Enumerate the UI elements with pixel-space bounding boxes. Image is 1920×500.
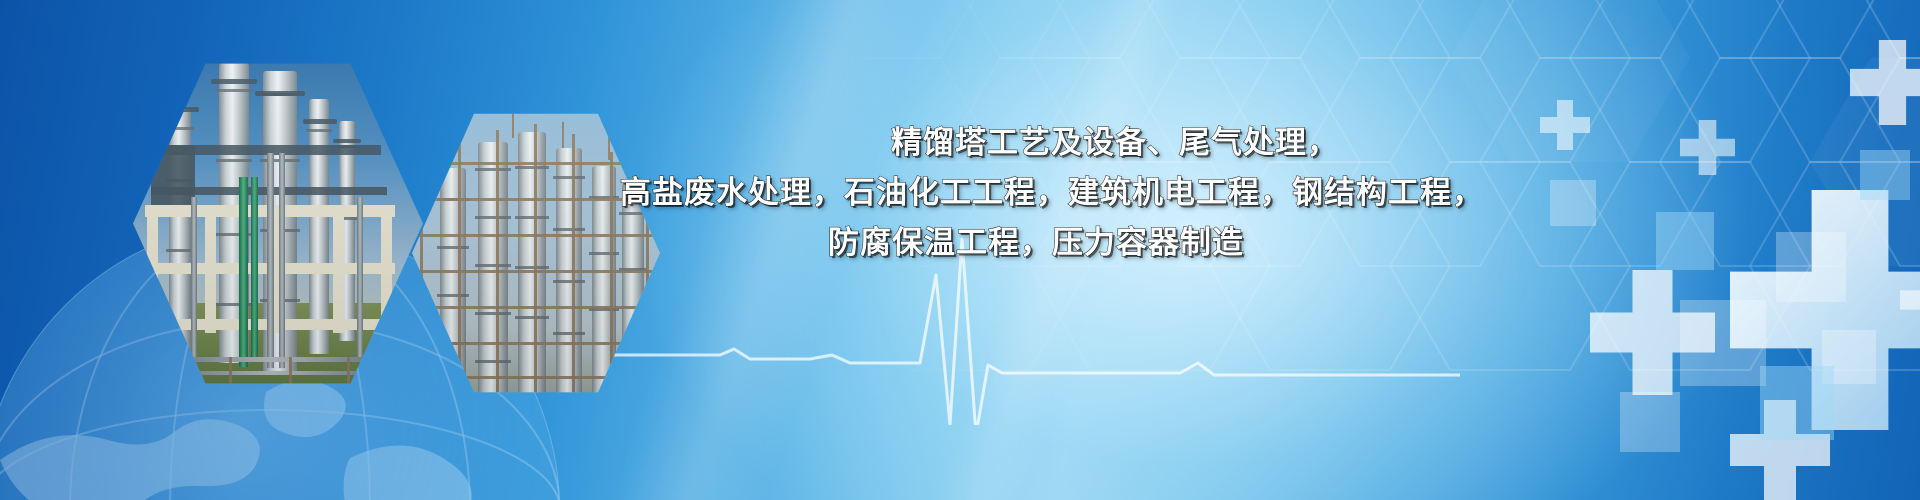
headline-line-1: 精馏塔工艺及设备、尾气处理， — [620, 118, 1440, 168]
cross-cluster — [1430, 0, 1920, 500]
headline-line-3: 防腐保温工程，压力容器制造 — [620, 218, 1440, 268]
promo-banner: 精馏塔工艺及设备、尾气处理， 高盐废水处理，石油化工工程，建筑机电工程，钢结构工… — [0, 0, 1920, 500]
banner-headline: 精馏塔工艺及设备、尾气处理， 高盐废水处理，石油化工工程，建筑机电工程，钢结构工… — [620, 118, 1440, 268]
headline-line-2: 高盐废水处理，石油化工工程，建筑机电工程，钢结构工程， — [620, 168, 1440, 218]
